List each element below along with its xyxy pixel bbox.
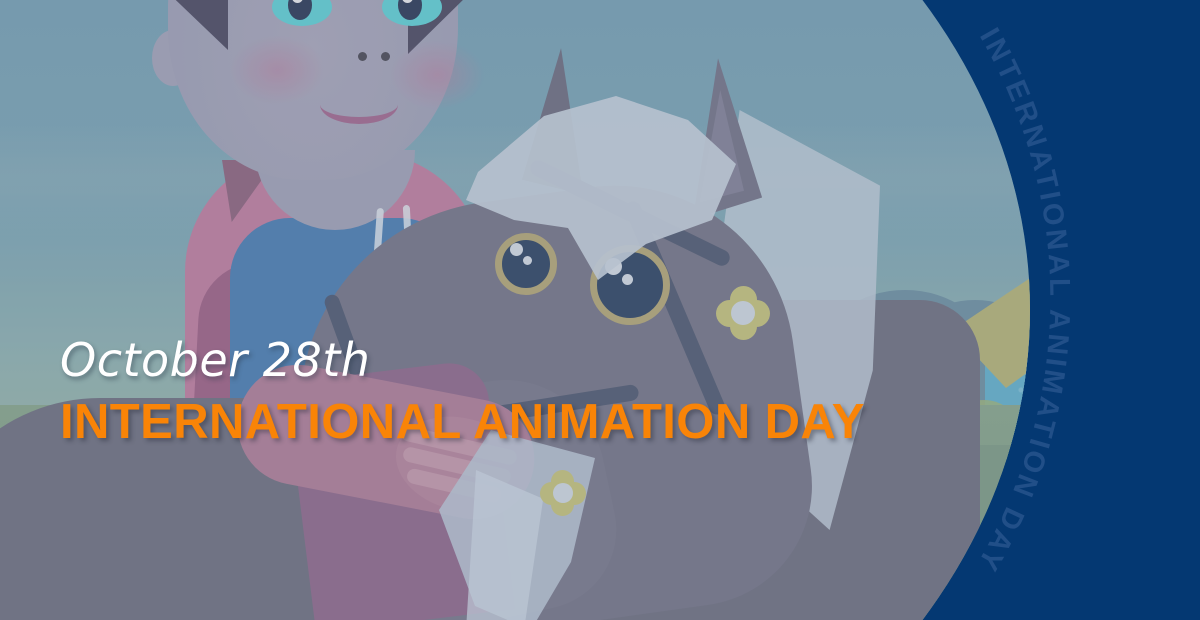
event-title: INTERNATIONAL ANIMATION DAY: [60, 398, 865, 447]
horse-eye-glint-left-large: [510, 243, 523, 256]
event-date: October 28th: [60, 336, 865, 384]
circular-image-inner: [0, 0, 1030, 620]
event-banner: INTERNATIONAL ANIMATION DAY October 28th…: [0, 0, 1200, 620]
horse-eye-glint-right-small: [622, 274, 633, 285]
flower-center: [731, 301, 755, 325]
boy-cheek-left: [230, 35, 325, 105]
horse-eye-glint-left-small: [523, 256, 532, 265]
boy-cheek-right: [390, 40, 485, 110]
flower2-center: [553, 483, 573, 503]
bridle-flower-cheek: [716, 286, 770, 340]
illustration-scene: [0, 0, 1030, 620]
circular-image-mask: [0, 0, 1030, 620]
boy-pupil-left: [288, 0, 312, 20]
text-block: October 28th INTERNATIONAL ANIMATION DAY: [60, 336, 865, 447]
boy-pupil-right: [398, 0, 422, 20]
boy-nostril-right: [381, 52, 390, 61]
boy-nostril-left: [358, 52, 367, 61]
boy-smile: [320, 85, 398, 124]
bridle-flower-nose: [540, 470, 586, 516]
